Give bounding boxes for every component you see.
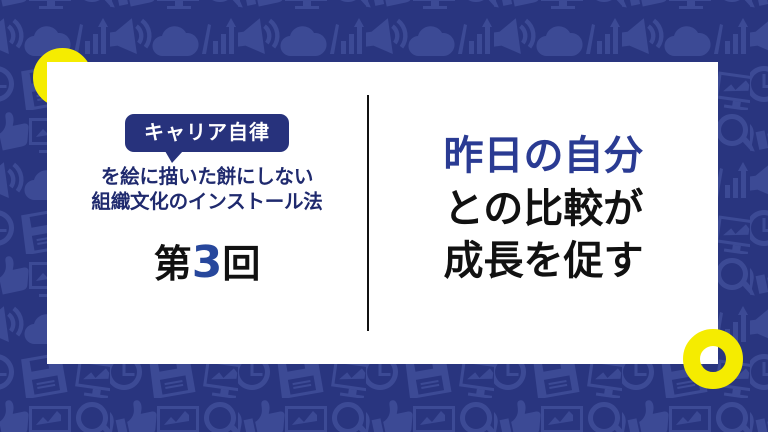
series-subtitle: を絵に描いた餅にしない 組織文化のインストール法: [91, 165, 322, 215]
series-subtitle-line-2: 組織文化のインストール法: [91, 190, 322, 215]
series-badge: キャリア自律: [125, 114, 289, 152]
slide-canvas: キャリア自律 を絵に描いた餅にしない 組織文化のインストール法 第3回 昨日の自…: [0, 0, 768, 432]
headline-line-3: 成長を促す: [444, 235, 644, 288]
headline-line-1: 昨日の自分: [444, 130, 644, 183]
issue-value: 3: [192, 237, 223, 288]
series-badge-tail: [165, 151, 183, 163]
series-badge-label: キャリア自律: [125, 114, 289, 152]
decorative-ring-bottom-right: [683, 329, 743, 389]
issue-suffix: 回: [222, 242, 260, 286]
left-column: キャリア自律 を絵に描いた餅にしない 組織文化のインストール法 第3回: [47, 62, 367, 364]
headline-line-2: との比較が: [444, 183, 644, 236]
issue-prefix: 第: [154, 242, 192, 286]
right-column: 昨日の自分 との比較が 成長を促す: [369, 62, 718, 364]
issue-number: 第3回: [154, 241, 261, 285]
content-card: キャリア自律 を絵に描いた餅にしない 組織文化のインストール法 第3回 昨日の自…: [47, 62, 718, 364]
series-subtitle-line-1: を絵に描いた餅にしない: [91, 165, 322, 190]
